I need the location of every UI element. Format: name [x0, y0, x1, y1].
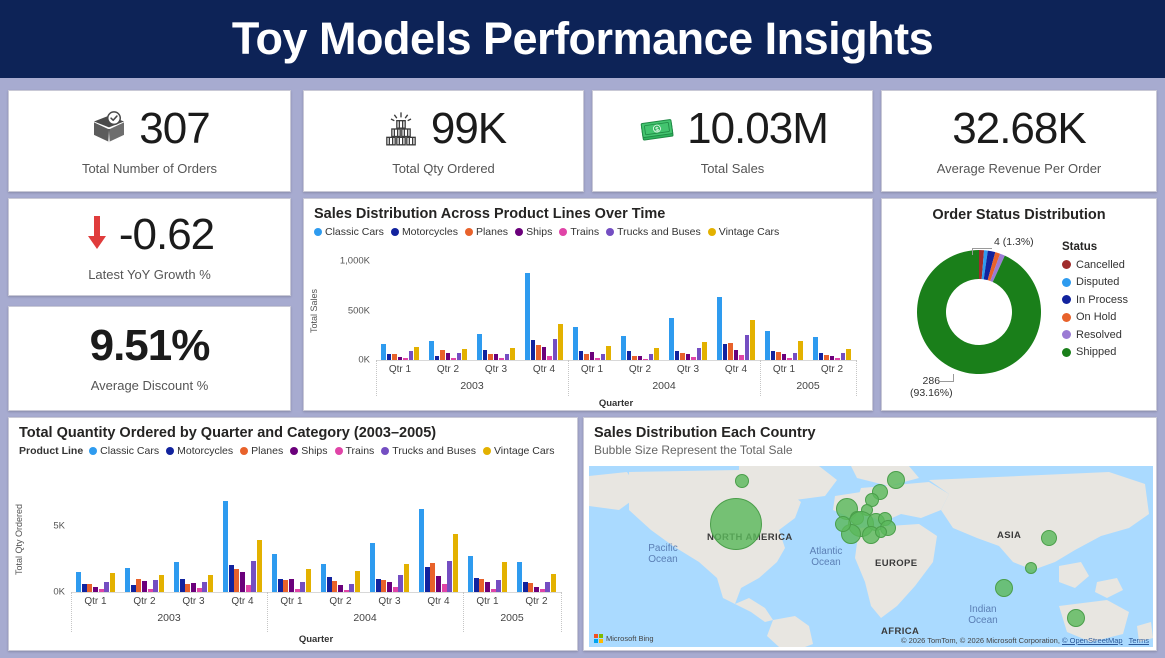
quarter-label: Qtr 1: [760, 364, 808, 375]
legend-item[interactable]: Motorcycles: [166, 445, 233, 457]
legend-color-dot: [391, 228, 399, 236]
y-axis-tick: 0K: [322, 355, 370, 366]
stacked-boxes-icon: [381, 109, 421, 149]
map-sales-bubble[interactable]: [887, 471, 905, 489]
bar[interactable]: [502, 562, 507, 592]
map-sales-bubble[interactable]: [710, 498, 762, 550]
quarter-group[interactable]: [512, 487, 561, 592]
legend-color-dot: [559, 228, 567, 236]
y-axis-title: Total Qty Ordered: [14, 487, 24, 592]
kpi-card-total-qty[interactable]: 99K Total Qty Ordered: [303, 90, 584, 192]
kpi-card-avg-revenue[interactable]: 32.68K Average Revenue Per Order: [881, 90, 1157, 192]
legend-color-dot: [335, 447, 343, 455]
plot-area[interactable]: [376, 261, 856, 360]
donut-legend-label: In Process: [1076, 294, 1128, 306]
legend-color-dot: [708, 228, 716, 236]
donut-callout-cancelled: 4 (1.3%): [994, 236, 1034, 248]
bar[interactable]: [419, 509, 424, 592]
quarter-label: Qtr 2: [616, 364, 664, 375]
bar[interactable]: [491, 589, 496, 592]
bar[interactable]: [93, 587, 98, 592]
panel-title: Sales Distribution Each Country: [584, 418, 1156, 443]
bar[interactable]: [240, 572, 245, 592]
quarter-label: Qtr 2: [808, 364, 856, 375]
year-separator: [376, 360, 377, 396]
legend-color-dot: [89, 447, 97, 455]
map-attribution: © 2026 TomTom, © 2026 Microsoft Corporat…: [901, 636, 1149, 645]
bar[interactable]: [483, 350, 488, 360]
order-status-panel[interactable]: Order Status Distribution 4 (1.3%)286(93…: [881, 198, 1157, 411]
bar[interactable]: [208, 575, 213, 592]
quarter-group[interactable]: [365, 487, 414, 592]
bar[interactable]: [496, 580, 501, 592]
bar[interactable]: [283, 580, 288, 592]
bar[interactable]: [82, 584, 87, 592]
legend-item[interactable]: Trucks and Buses: [381, 445, 476, 457]
page-title: Toy Models Performance Insights: [232, 13, 933, 65]
donut-legend-item[interactable]: Shipped: [1062, 346, 1128, 358]
bar[interactable]: [534, 587, 539, 592]
quarter-label: Qtr 3: [664, 364, 712, 375]
bar[interactable]: [387, 582, 392, 592]
legend-label: Planes: [251, 445, 283, 457]
bar[interactable]: [197, 588, 202, 592]
bar[interactable]: [453, 534, 458, 592]
terms-link[interactable]: Terms: [1129, 636, 1149, 645]
down-arrow-icon: [85, 212, 109, 257]
bar[interactable]: [776, 352, 781, 360]
chart-legend[interactable]: Product LineClassic CarsMotorcyclesPlane…: [9, 443, 577, 457]
plot-area[interactable]: [71, 487, 561, 592]
quarter-group[interactable]: [316, 487, 365, 592]
bar[interactable]: [846, 349, 851, 360]
bar[interactable]: [451, 358, 456, 360]
map-sales-bubble[interactable]: [835, 516, 851, 532]
legend-item[interactable]: Vintage Cars: [708, 226, 780, 238]
panel-title: Order Status Distribution: [882, 199, 1156, 225]
qty-by-quarter-panel[interactable]: Total Quantity Ordered by Quarter and Ca…: [8, 417, 578, 651]
bar[interactable]: [632, 356, 637, 360]
quarter-group[interactable]: [218, 487, 267, 592]
bar[interactable]: [510, 348, 515, 360]
legend-item[interactable]: Trains: [559, 226, 599, 238]
bar[interactable]: [251, 561, 256, 593]
bar[interactable]: [398, 357, 403, 360]
quarter-group[interactable]: [520, 261, 568, 360]
kpi-card-yoy-growth[interactable]: -0.62 Latest YoY Growth %: [8, 198, 291, 296]
bar[interactable]: [136, 579, 141, 592]
bar[interactable]: [702, 342, 707, 360]
bar[interactable]: [638, 356, 643, 360]
bar[interactable]: [536, 345, 541, 360]
bar[interactable]: [499, 358, 504, 360]
bar[interactable]: [153, 580, 158, 592]
panel-title: Total Quantity Ordered by Quarter and Ca…: [9, 418, 577, 443]
legend-label: Motorcycles: [402, 226, 458, 238]
quarter-label: Qtr 1: [568, 364, 616, 375]
bar[interactable]: [142, 581, 147, 592]
bar[interactable]: [525, 273, 530, 360]
quarter-label: Qtr 2: [424, 364, 472, 375]
bar[interactable]: [321, 564, 326, 592]
quarter-label: Qtr 1: [267, 596, 316, 607]
map-sales-bubble[interactable]: [875, 526, 887, 538]
sales-distribution-panel[interactable]: Sales Distribution Across Product Lines …: [303, 198, 873, 411]
bar[interactable]: [306, 569, 311, 592]
legend-label: Vintage Cars: [719, 226, 780, 238]
quarter-group[interactable]: [267, 487, 316, 592]
legend-label: Planes: [476, 226, 508, 238]
bar[interactable]: [798, 341, 803, 360]
quarter-label: Qtr 3: [169, 596, 218, 607]
bar[interactable]: [376, 579, 381, 592]
bar[interactable]: [830, 356, 835, 360]
kpi-card-avg-discount[interactable]: 9.51% Average Discount %: [8, 306, 291, 411]
kpi-value: 10.03M: [687, 107, 828, 151]
bar[interactable]: [332, 581, 337, 592]
legend-color-dot: [1062, 278, 1071, 287]
bar[interactable]: [474, 578, 479, 592]
bar[interactable]: [381, 580, 386, 592]
bar[interactable]: [191, 583, 196, 592]
donut-legend-label: Resolved: [1076, 329, 1122, 341]
donut-legend[interactable]: StatusCancelledDisputedIn ProcessOn Hold…: [1062, 241, 1128, 358]
legend-label: Trucks and Buses: [617, 226, 701, 238]
bar[interactable]: [675, 351, 680, 360]
bar[interactable]: [750, 320, 755, 360]
bar[interactable]: [446, 353, 451, 360]
bar[interactable]: [234, 569, 239, 592]
map-sales-bubble[interactable]: [1041, 530, 1057, 546]
quarter-label: Qtr 1: [376, 364, 424, 375]
y-axis-tick: 500K: [322, 305, 370, 316]
dashboard-header: Toy Models Performance Insights: [0, 0, 1165, 78]
kpi-card-total-orders[interactable]: 307 Total Number of Orders: [8, 90, 291, 192]
bar[interactable]: [393, 587, 398, 592]
quarter-group[interactable]: [472, 261, 520, 360]
year-label: 2004: [568, 380, 760, 392]
legend-color-dot: [1062, 260, 1071, 269]
callout-leader-line: [972, 248, 973, 255]
quarter-label: Qtr 4: [712, 364, 760, 375]
bar[interactable]: [148, 589, 153, 592]
legend-item[interactable]: Motorcycles: [391, 226, 458, 238]
bar[interactable]: [229, 565, 234, 592]
legend-label: Trucks and Buses: [392, 445, 476, 457]
bar[interactable]: [257, 540, 262, 593]
kpi-value: 307: [139, 107, 209, 151]
quarter-axis-labels: Qtr 1Qtr 2Qtr 3Qtr 4Qtr 1Qtr 2Qtr 3Qtr 4…: [376, 364, 856, 375]
bar[interactable]: [691, 357, 696, 360]
bar[interactable]: [278, 579, 283, 592]
bar[interactable]: [553, 339, 558, 360]
bar[interactable]: [435, 356, 440, 360]
legend-label: Ships: [301, 445, 327, 457]
quarter-group[interactable]: [664, 261, 712, 360]
bar[interactable]: [477, 334, 482, 360]
legend-item[interactable]: Classic Cars: [314, 226, 384, 238]
bar[interactable]: [782, 354, 787, 360]
bar[interactable]: [813, 337, 818, 360]
quarter-label: Qtr 2: [512, 596, 561, 607]
x-axis-line: [71, 592, 561, 593]
bar[interactable]: [479, 579, 484, 592]
bar[interactable]: [300, 582, 305, 592]
bar[interactable]: [579, 351, 584, 360]
dashboard-root: Toy Models Performance Insights 307 Tota…: [0, 0, 1165, 658]
bar[interactable]: [295, 589, 300, 592]
legend-item[interactable]: Classic Cars: [89, 445, 159, 457]
kpi-card-total-sales[interactable]: $ 10.03M Total Sales: [592, 90, 873, 192]
bar[interactable]: [558, 324, 563, 360]
bar[interactable]: [392, 354, 397, 360]
kpi-label: Average Discount %: [91, 378, 209, 393]
bar[interactable]: [531, 340, 536, 360]
bar[interactable]: [355, 571, 360, 592]
bar[interactable]: [99, 589, 104, 592]
donut-legend-item[interactable]: On Hold: [1062, 311, 1128, 323]
year-separator: [568, 360, 569, 396]
bar[interactable]: [104, 582, 109, 592]
bar[interactable]: [370, 543, 375, 592]
bar[interactable]: [468, 556, 473, 592]
bar[interactable]: [551, 574, 556, 592]
legend-color-dot: [290, 447, 298, 455]
kpi-label: Total Qty Ordered: [392, 161, 495, 176]
quarter-axis-labels: Qtr 1Qtr 2Qtr 3Qtr 4Qtr 1Qtr 2Qtr 3Qtr 4…: [71, 596, 561, 607]
kpi-value: 9.51%: [90, 324, 210, 368]
bar[interactable]: [87, 584, 92, 592]
bar[interactable]: [745, 335, 750, 360]
bar[interactable]: [835, 358, 840, 360]
quarter-group[interactable]: [376, 261, 424, 360]
year-label: 2003: [71, 612, 267, 624]
bar[interactable]: [547, 356, 552, 360]
bar[interactable]: [654, 348, 659, 360]
bar[interactable]: [327, 577, 332, 592]
bar[interactable]: [680, 353, 685, 360]
bar[interactable]: [494, 354, 499, 360]
legend-color-dot: [606, 228, 614, 236]
map-sales-bubble[interactable]: [1067, 609, 1085, 627]
y-axis-tick: 1,000K: [322, 256, 370, 267]
year-separator: [856, 360, 857, 396]
bar[interactable]: [76, 572, 81, 592]
quarter-group[interactable]: [568, 261, 616, 360]
bar[interactable]: [728, 343, 733, 360]
bar[interactable]: [819, 353, 824, 360]
quarter-group[interactable]: [120, 487, 169, 592]
quarter-group[interactable]: [760, 261, 808, 360]
bar[interactable]: [180, 579, 185, 592]
package-check-icon: [89, 109, 129, 149]
map-ocean-label: Indian Ocean: [955, 604, 1011, 626]
bar[interactable]: [739, 355, 744, 360]
bar[interactable]: [590, 352, 595, 360]
bar[interactable]: [457, 353, 462, 360]
bing-logo: Microsoft Bing: [594, 634, 654, 643]
bar[interactable]: [545, 582, 550, 593]
bar[interactable]: [223, 501, 228, 592]
quarter-group[interactable]: [71, 487, 120, 592]
donut-legend-item[interactable]: In Process: [1062, 294, 1128, 306]
bar[interactable]: [159, 575, 164, 592]
bar[interactable]: [442, 584, 447, 592]
map-sales-bubble[interactable]: [735, 474, 749, 488]
bar[interactable]: [425, 567, 430, 592]
donut-legend-item[interactable]: Cancelled: [1062, 259, 1128, 271]
legend-item[interactable]: Trucks and Buses: [606, 226, 701, 238]
donut-legend-label: Shipped: [1076, 346, 1116, 358]
quarter-label: Qtr 4: [520, 364, 568, 375]
bar[interactable]: [606, 346, 611, 360]
map-continent-label: ASIA: [997, 530, 1021, 541]
bar[interactable]: [584, 354, 589, 360]
bar[interactable]: [488, 354, 493, 360]
quarter-label: Qtr 1: [463, 596, 512, 607]
bar[interactable]: [398, 575, 403, 592]
bar[interactable]: [381, 344, 386, 360]
openstreetmap-link[interactable]: © OpenStreetMap: [1062, 636, 1123, 645]
donut-svg[interactable]: [882, 229, 1082, 399]
bar[interactable]: [485, 582, 490, 592]
bar[interactable]: [387, 354, 392, 360]
bar[interactable]: [440, 350, 445, 360]
legend-label: Motorcycles: [177, 445, 233, 457]
quarter-group[interactable]: [712, 261, 760, 360]
bar[interactable]: [540, 589, 545, 592]
map-continent-label: EUROPE: [875, 558, 918, 569]
bar[interactable]: [686, 354, 691, 360]
qty-by-quarter-chart[interactable]: Total Qty Ordered0K5KQtr 1Qtr 2Qtr 3Qtr …: [9, 471, 579, 652]
quarter-label: Qtr 3: [365, 596, 414, 607]
bar[interactable]: [669, 318, 674, 360]
quarter-label: Qtr 3: [472, 364, 520, 375]
year-separator: [71, 592, 72, 632]
bar[interactable]: [771, 351, 776, 360]
map-sales-bubble[interactable]: [1025, 562, 1037, 574]
quarter-group[interactable]: [414, 487, 463, 592]
sales-distribution-chart[interactable]: Total Sales0K500K1,000KQtr 1Qtr 2Qtr 3Qt…: [304, 251, 874, 412]
quarter-group[interactable]: [808, 261, 856, 360]
legend-color-dot: [381, 447, 389, 455]
legend-color-dot: [483, 447, 491, 455]
bar[interactable]: [573, 327, 578, 360]
order-status-donut[interactable]: 4 (1.3%)286(93.16%)StatusCancelledDisput…: [882, 229, 1158, 412]
bar[interactable]: [246, 585, 251, 592]
bar[interactable]: [131, 585, 136, 592]
bar[interactable]: [765, 331, 770, 360]
bar[interactable]: [403, 358, 408, 360]
legend-item[interactable]: Ships: [290, 445, 327, 457]
bar[interactable]: [793, 353, 798, 360]
donut-slice[interactable]: [917, 250, 1041, 374]
legend-color-dot: [1062, 330, 1071, 339]
bar[interactable]: [595, 358, 600, 360]
callout-leader-line: [972, 248, 992, 249]
quarter-group[interactable]: [463, 487, 512, 592]
donut-callout-percent: (93.16%): [910, 387, 953, 399]
donut-legend-label: On Hold: [1076, 311, 1116, 323]
legend-item[interactable]: Trains: [335, 445, 375, 457]
bar[interactable]: [404, 564, 409, 592]
bar[interactable]: [349, 584, 354, 592]
y-axis-tick: 5K: [27, 521, 65, 532]
year-label: 2005: [760, 380, 856, 392]
bar[interactable]: [344, 590, 349, 592]
bar[interactable]: [723, 344, 728, 360]
legend-color-dot: [1062, 295, 1071, 304]
bar[interactable]: [505, 354, 510, 360]
bar[interactable]: [787, 358, 792, 360]
year-separator: [463, 592, 464, 632]
bar[interactable]: [429, 341, 434, 360]
bar[interactable]: [697, 348, 702, 360]
bar[interactable]: [824, 355, 829, 360]
quarter-group[interactable]: [169, 487, 218, 592]
quarter-label: Qtr 4: [414, 596, 463, 607]
bar[interactable]: [621, 336, 626, 360]
bar[interactable]: [717, 297, 722, 360]
bar[interactable]: [734, 350, 739, 360]
bar[interactable]: [414, 347, 419, 360]
bar[interactable]: [185, 584, 190, 592]
bar[interactable]: [125, 568, 130, 592]
year-label: 2005: [463, 612, 561, 624]
world-map[interactable]: NORTH AMERICASOUTH AMERICAEUROPEASIAAFRI…: [589, 466, 1153, 647]
chart-legend[interactable]: Classic CarsMotorcyclesPlanesShipsTrains…: [304, 224, 872, 238]
sales-map-panel[interactable]: Sales Distribution Each Country Bubble S…: [583, 417, 1157, 651]
map-sales-bubble[interactable]: [995, 579, 1013, 597]
bar[interactable]: [409, 351, 414, 360]
donut-legend-item[interactable]: Resolved: [1062, 329, 1128, 341]
bar[interactable]: [436, 576, 441, 592]
bing-logo-label: Microsoft Bing: [606, 634, 654, 643]
year-separator: [267, 592, 268, 632]
legend-title: Product Line: [19, 445, 83, 457]
quarter-label: Qtr 2: [120, 596, 169, 607]
bar[interactable]: [462, 349, 467, 360]
legend-item[interactable]: Vintage Cars: [483, 445, 555, 457]
quarter-group[interactable]: [616, 261, 664, 360]
bar[interactable]: [289, 579, 294, 592]
bar[interactable]: [517, 562, 522, 592]
bar[interactable]: [338, 585, 343, 592]
legend-item[interactable]: Planes: [240, 445, 283, 457]
bar[interactable]: [643, 359, 648, 360]
kpi-label: Total Sales: [701, 161, 765, 176]
bar[interactable]: [528, 583, 533, 592]
donut-legend-item[interactable]: Disputed: [1062, 276, 1128, 288]
bar[interactable]: [110, 573, 115, 592]
bar[interactable]: [542, 347, 547, 360]
bar[interactable]: [202, 582, 207, 593]
bar[interactable]: [649, 354, 654, 360]
bar[interactable]: [174, 562, 179, 592]
bar[interactable]: [272, 554, 277, 592]
bar[interactable]: [841, 353, 846, 360]
legend-color-dot: [314, 228, 322, 236]
legend-item[interactable]: Ships: [515, 226, 552, 238]
bar[interactable]: [523, 582, 528, 593]
bar[interactable]: [430, 563, 435, 592]
bar[interactable]: [601, 354, 606, 360]
bar[interactable]: [627, 351, 632, 360]
donut-legend-label: Cancelled: [1076, 259, 1125, 271]
quarter-group[interactable]: [424, 261, 472, 360]
bar[interactable]: [447, 561, 452, 592]
legend-item[interactable]: Planes: [465, 226, 508, 238]
